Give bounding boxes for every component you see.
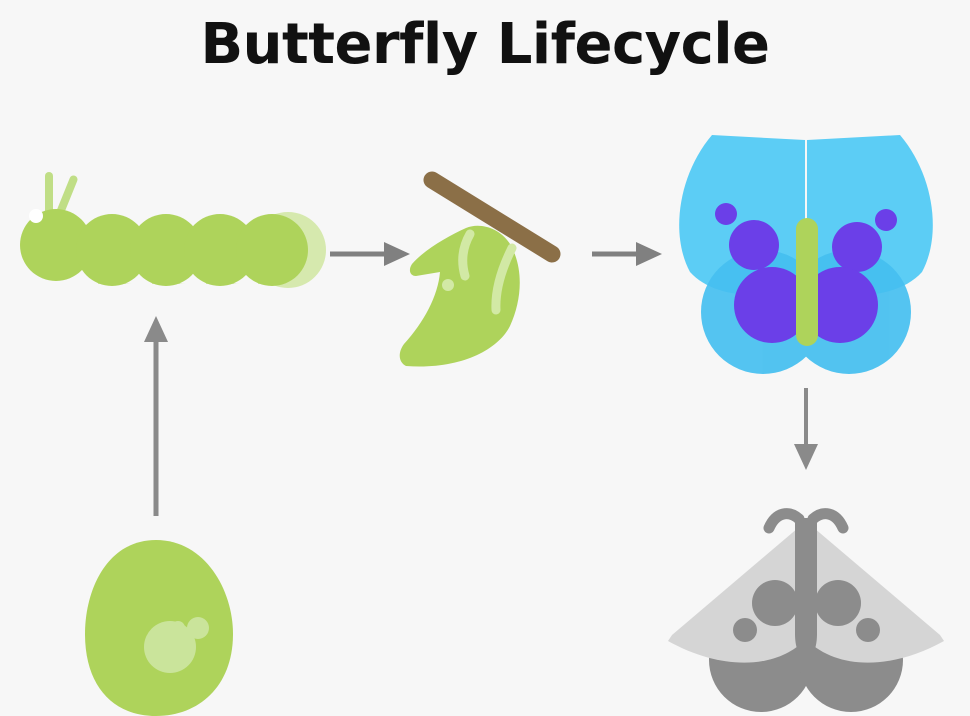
lifecycle-diagram: Butterfly Lifecycle [0,0,970,716]
stage-egg[interactable] [0,0,970,716]
egg-illustration [85,540,233,716]
